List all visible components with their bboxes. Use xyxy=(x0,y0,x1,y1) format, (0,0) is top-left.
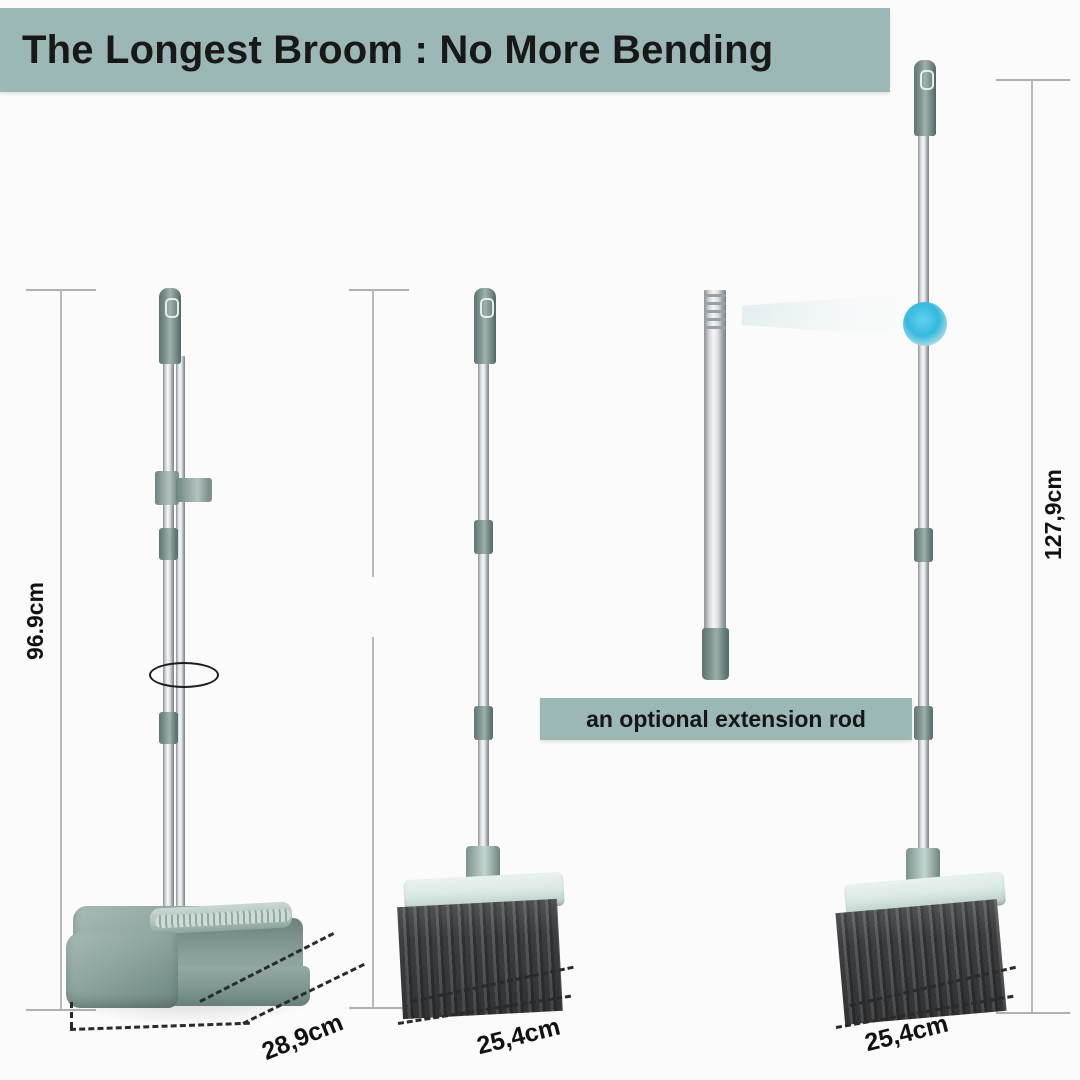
extension-rod-thread-2 xyxy=(704,302,726,305)
extension-rod-thread-5 xyxy=(704,326,726,329)
rubber-ring-loop xyxy=(149,662,219,688)
bristle-shading xyxy=(835,899,1006,1025)
broom-pole-extended xyxy=(918,124,929,866)
extension-rod-thread-4 xyxy=(704,318,726,321)
dimension-line-mid-upper xyxy=(372,289,374,577)
dimension-line-mid-bottom-cap xyxy=(349,1007,409,1009)
dimension-line-mid-top-cap xyxy=(349,289,409,291)
dimension-line-mid-lower xyxy=(372,637,374,1009)
extension-rod-thread-1 xyxy=(704,294,726,297)
dimension-line-right xyxy=(1031,79,1033,1014)
hang-hole-icon xyxy=(920,70,934,90)
dimension-label-height-right: 127,9cm xyxy=(1040,469,1067,560)
extension-rod-callout-text: an optional extension rod xyxy=(586,706,866,733)
dimension-line-right-top-cap xyxy=(996,79,1070,81)
dimension-line-right-bottom-cap xyxy=(996,1012,1070,1014)
dimension-label-height-left: 96.9cm xyxy=(22,582,49,660)
dimension-label-width-broom-mid: 25,4cm xyxy=(474,1012,563,1061)
page-title: The Longest Broom : No More Bending xyxy=(22,28,773,73)
broom-pole-standard xyxy=(478,352,489,862)
dustpan-side-wall xyxy=(66,932,178,1008)
title-banner: The Longest Broom : No More Bending xyxy=(0,8,890,92)
broom-bristles-extended xyxy=(835,899,1006,1025)
pole-collar-standard-upper xyxy=(474,520,493,554)
pole-collar-extended-upper xyxy=(914,528,933,562)
dustpan-pole xyxy=(176,356,185,916)
dustpan-width-tick-left xyxy=(70,1002,73,1028)
broom-pole-set xyxy=(163,352,174,918)
pole-collar-lower xyxy=(159,712,178,744)
extension-rod-thread-3 xyxy=(704,310,726,313)
handle-clip-arm xyxy=(176,478,212,502)
pole-collar-extended-lower xyxy=(914,706,933,740)
pole-collar-standard-lower xyxy=(474,706,493,740)
extension-rod-callout-banner: an optional extension rod xyxy=(540,698,912,740)
pole-collar-upper xyxy=(159,528,178,560)
extension-rod-ferrule xyxy=(702,628,729,680)
extension-rod-pole xyxy=(704,290,726,638)
extension-joint-highlight xyxy=(903,302,947,346)
hang-hole-icon xyxy=(480,298,494,318)
dimension-line-left xyxy=(60,289,62,1011)
hang-hole-icon xyxy=(165,298,179,318)
infographic-canvas: The Longest Broom : No More Bending 96.9… xyxy=(0,0,1080,1080)
